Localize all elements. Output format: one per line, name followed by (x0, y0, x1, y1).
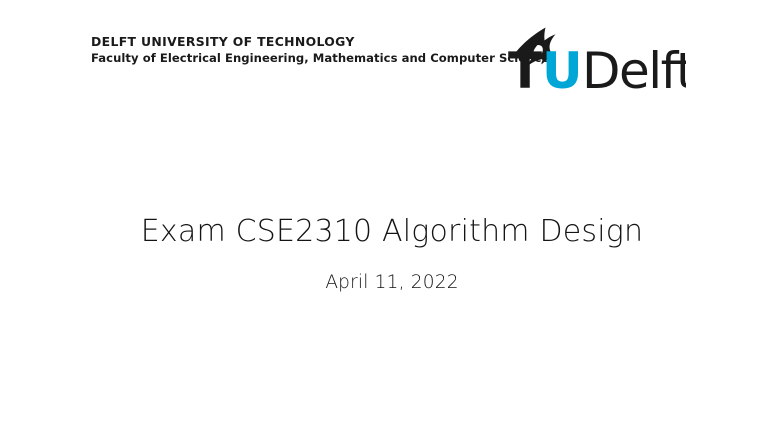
page-header: DELFT UNIVERSITY OF TECHNOLOGY Faculty o… (0, 0, 784, 110)
tudelft-logo-letter-t: T (508, 42, 542, 96)
university-name: DELFT UNIVERSITY OF TECHNOLOGY (91, 36, 549, 48)
exam-date: April 11, 2022 (0, 272, 784, 294)
exam-cover-page: DELFT UNIVERSITY OF TECHNOLOGY Faculty o… (0, 0, 784, 441)
tudelft-logo: T U Delft (506, 24, 686, 96)
page-body-blank (0, 310, 784, 441)
institution-block: DELFT UNIVERSITY OF TECHNOLOGY Faculty o… (91, 36, 549, 65)
tudelft-logo-letter-u: U (542, 42, 582, 96)
tudelft-logo-wordmark: Delft (582, 42, 686, 96)
page-title: Exam CSE2310 Algorithm Design (0, 214, 784, 250)
title-block: Exam CSE2310 Algorithm Design April 11, … (0, 214, 784, 294)
faculty-name: Faculty of Electrical Engineering, Mathe… (91, 53, 549, 65)
tudelft-logo-graphic: T U Delft (506, 24, 686, 96)
